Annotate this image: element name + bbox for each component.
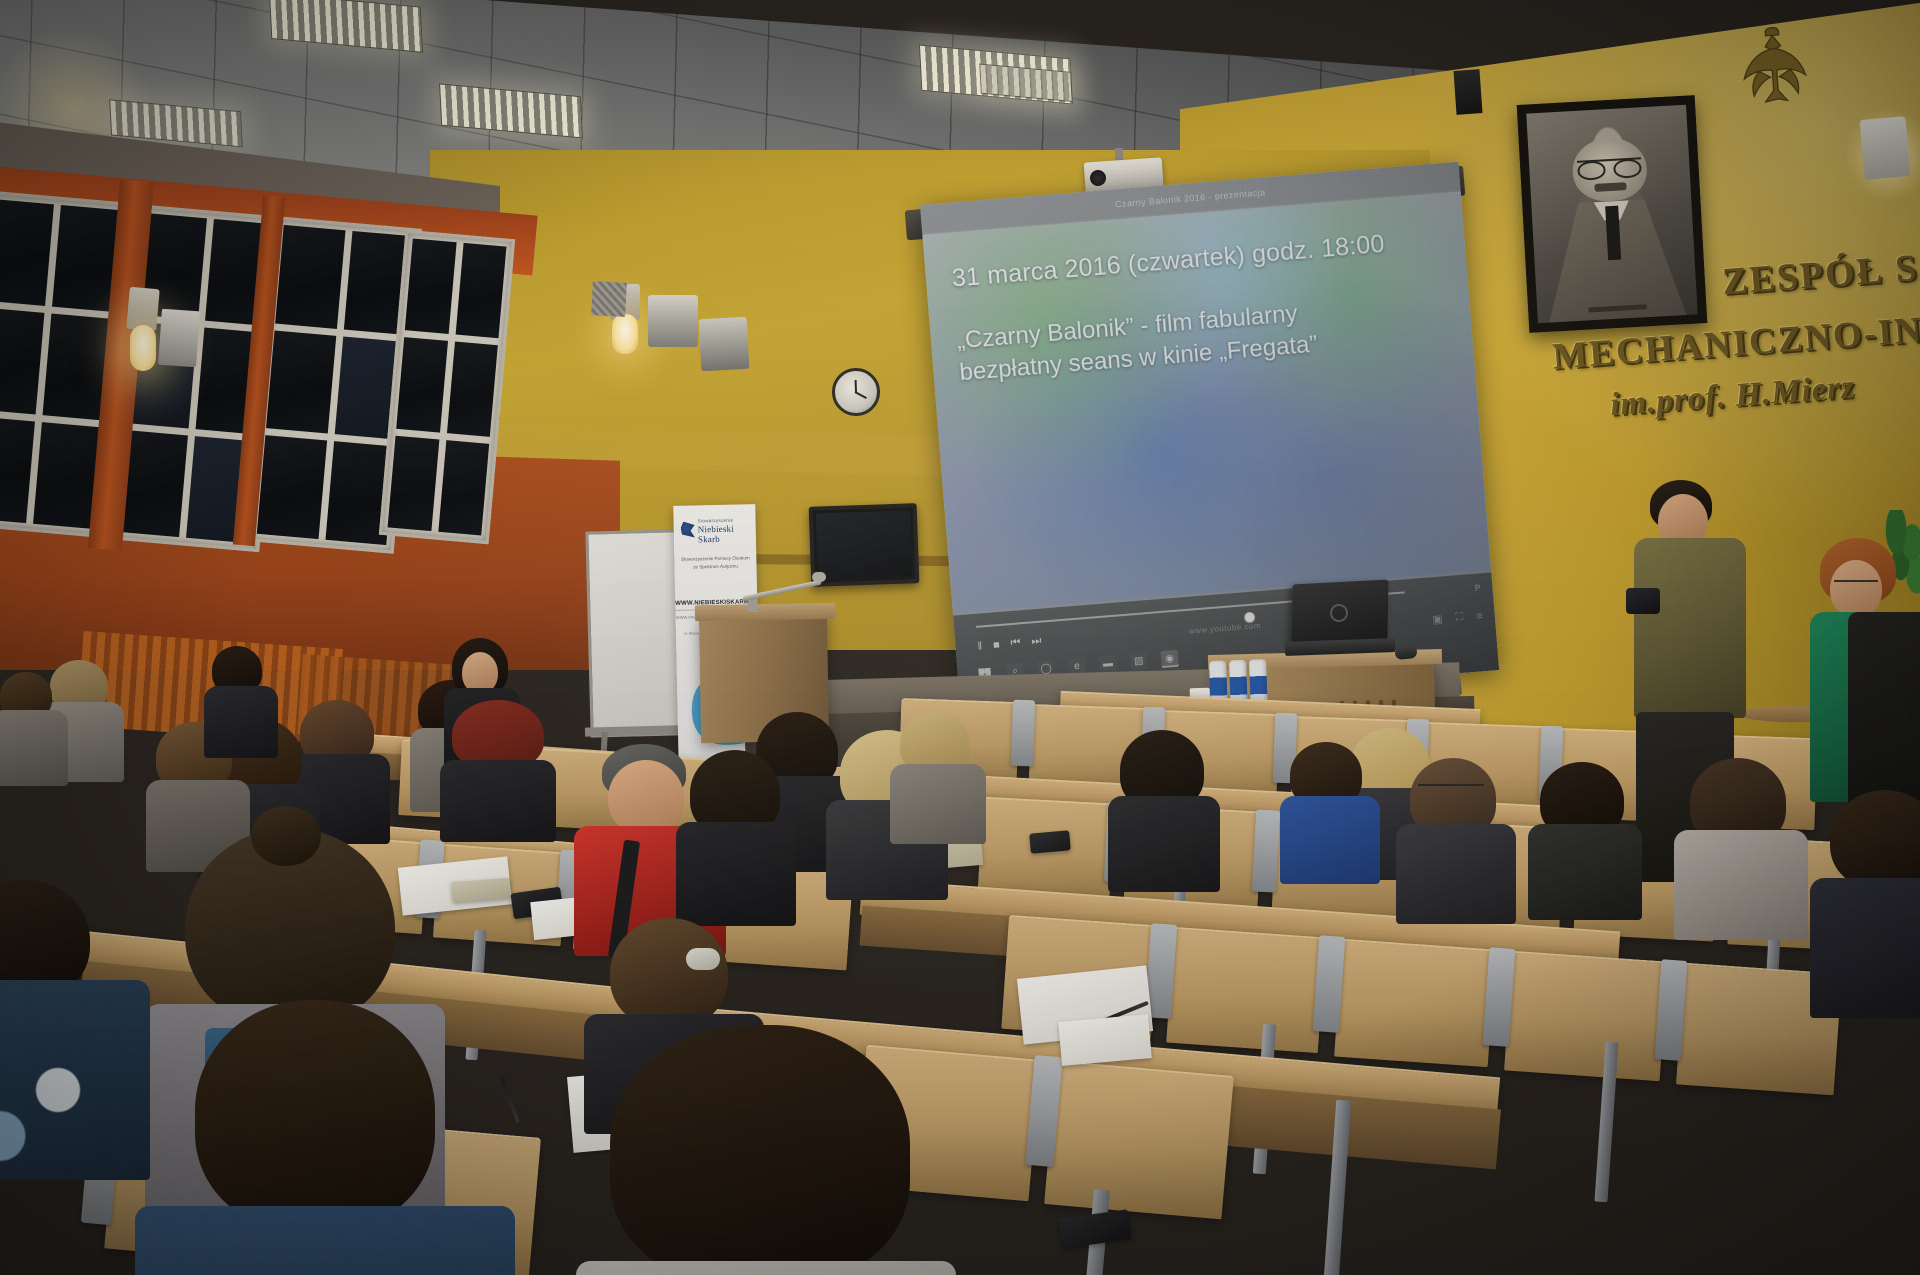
wall-sconce <box>1859 116 1910 180</box>
volume-icon[interactable]: ᴘ <box>1474 581 1481 593</box>
banner-subtitle: Stowarzyszenie Pomocy Osobom ze Spektrum… <box>674 554 756 571</box>
hair-bun-top <box>251 806 321 866</box>
pen <box>500 1077 520 1123</box>
handout-paper <box>1058 1014 1151 1066</box>
seat-back <box>1504 951 1668 1082</box>
player-right-controls-top: ᴘ <box>1474 581 1481 593</box>
smartphone <box>1058 1209 1131 1248</box>
window-pane <box>266 330 336 434</box>
microphone-icon <box>812 572 826 582</box>
floral-top <box>0 980 150 1180</box>
hair <box>1830 790 1920 890</box>
olive-jacket <box>1634 538 1746 718</box>
grey-top <box>1674 830 1808 940</box>
window-pane <box>405 238 456 333</box>
window-pane <box>0 307 44 415</box>
glasses-icon <box>1577 158 1642 178</box>
window-pane <box>0 198 53 306</box>
window-pane <box>0 415 34 523</box>
upper-body <box>0 710 68 786</box>
head <box>608 760 684 836</box>
wall-sconce-bulb <box>130 325 156 371</box>
glasses-icon <box>1834 580 1878 591</box>
window-pane <box>275 225 345 329</box>
wall-vent-grille <box>591 281 627 317</box>
projection-screen: Czarny Balonik 2016 - prezentacja Odtwar… <box>920 162 1499 714</box>
settings-icon[interactable]: ≡ <box>1476 610 1483 622</box>
curly-hair <box>610 1025 910 1275</box>
store-icon[interactable]: ▧ <box>1130 652 1148 670</box>
polish-eagle-emblem <box>1716 18 1833 135</box>
wall-speaker <box>648 295 698 347</box>
wall-speaker <box>1453 69 1482 115</box>
laptop-logo-icon <box>1330 604 1348 622</box>
portrait-frame <box>1517 95 1707 333</box>
cast-icon[interactable]: ▣ <box>1432 612 1443 626</box>
tv-screen <box>816 510 912 579</box>
wall-sconce-bulb <box>612 314 638 354</box>
media-player-icon[interactable]: ◉ <box>1161 650 1179 668</box>
player-right-controls-bottom: ▣ ⛶ ≡ <box>1432 609 1483 626</box>
dark-vest <box>1848 612 1920 812</box>
lectern-top <box>695 603 835 621</box>
banner-logo-icon <box>681 521 695 537</box>
fullscreen-icon[interactable]: ⛶ <box>1455 611 1464 625</box>
hair <box>195 1000 435 1230</box>
white-top <box>576 1261 956 1275</box>
upper-body <box>1396 824 1516 924</box>
auditorium-photo: Czarny Balonik 2016 - prezentacja Odtwar… <box>0 0 1920 1275</box>
portrait-photo <box>1526 105 1697 324</box>
file-explorer-icon[interactable]: ▬ <box>1099 655 1117 673</box>
window-pane <box>438 440 489 535</box>
window-pane <box>388 436 439 531</box>
camera <box>1626 588 1660 614</box>
window-pane-grid <box>388 238 507 535</box>
window-pane <box>446 341 497 436</box>
projector-lens-icon <box>1090 170 1106 186</box>
window-pane <box>396 337 447 432</box>
seat-back <box>1334 939 1496 1067</box>
upper-body <box>440 760 556 842</box>
notebook <box>451 878 510 902</box>
ceiling-speaker <box>158 309 200 368</box>
upper-body <box>676 822 796 926</box>
upper-body <box>1528 824 1642 920</box>
denim-top <box>135 1206 515 1275</box>
upper-body <box>204 686 278 758</box>
seat-armrest <box>1252 809 1280 892</box>
hair-clip <box>686 948 720 970</box>
seat-armrest <box>1011 700 1035 767</box>
upper-body <box>1810 878 1920 1018</box>
glasses-icon <box>1418 784 1484 795</box>
wall-speaker <box>699 317 750 371</box>
blue-top <box>1280 796 1380 884</box>
hair-ponytail <box>610 918 728 1028</box>
window-pane <box>455 243 506 338</box>
banner-brand-prefix: Stowarzyszenie <box>698 518 734 524</box>
banner-brand-name: Niebieski Skarb <box>698 523 756 544</box>
upper-body <box>1108 796 1220 892</box>
upper-body <box>890 764 986 844</box>
seat-back <box>1044 1061 1234 1220</box>
seat-back <box>1166 927 1326 1053</box>
app-title-text: Czarny Balonik 2016 - prezentacja <box>1115 187 1266 209</box>
smartphone <box>1029 830 1071 853</box>
window-pane <box>257 435 327 539</box>
